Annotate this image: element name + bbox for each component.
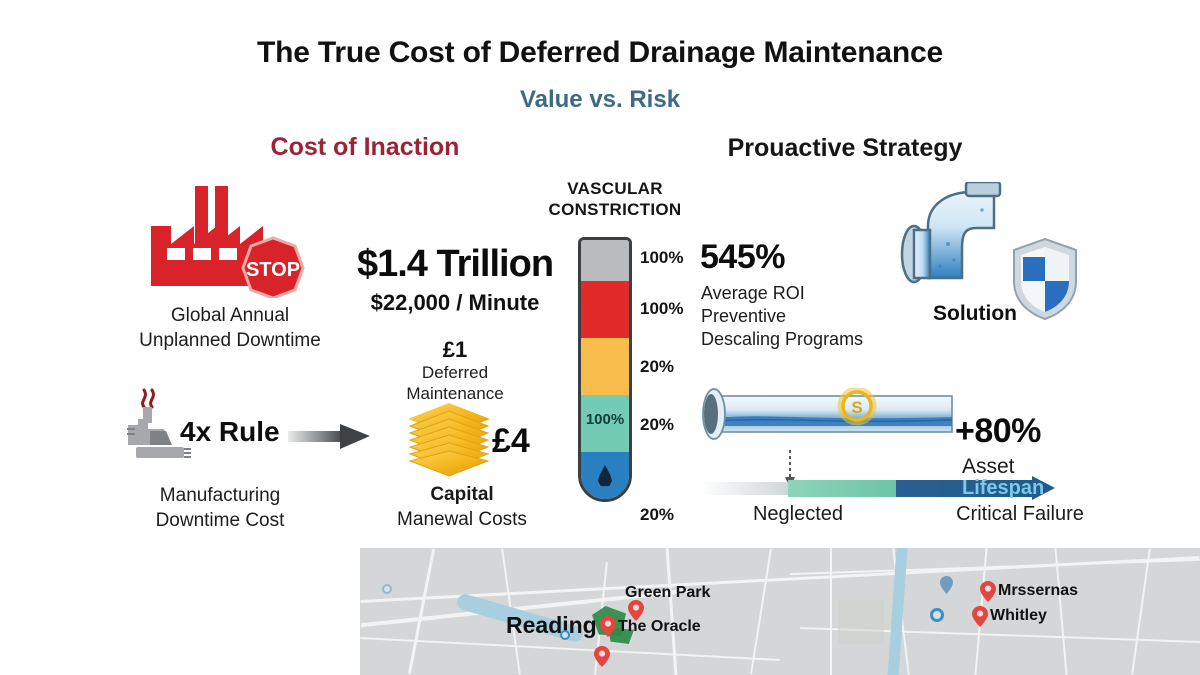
capital-caption-line2: Manewal Costs — [372, 507, 552, 532]
map-label-mrssernas: Mrssernas — [998, 582, 1078, 600]
map-road — [830, 548, 832, 675]
section-heading-proactive-strategy: Prouactive Strategy — [690, 134, 1000, 163]
factory-stop-icon: STOP — [143, 186, 313, 298]
map-label-the-oracle: The Oracle — [618, 618, 701, 636]
headline-rate: $22,000 / Minute — [330, 290, 580, 316]
infographic-canvas: The True Cost of Deferred Drainage Maint… — [0, 0, 1200, 675]
page-title: The True Cost of Deferred Drainage Maint… — [0, 36, 1200, 70]
capital-caption: Capital Manewal Costs — [372, 482, 552, 532]
four-x-rule-label: 4x Rule — [180, 416, 280, 448]
map-pin-whitley[interactable] — [972, 606, 988, 627]
vial-tick-labels: 100%100%20%20%20% — [640, 237, 698, 522]
vial-tick-red: 100% — [640, 299, 698, 319]
roi-caption-line2: Preventive — [701, 305, 921, 328]
manufacturing-caption: Manufacturing Downtime Cost — [120, 483, 320, 533]
location-map[interactable]: Reading Green Park The Oracle Mrssernas … — [360, 548, 1200, 675]
vial-inline-label: 100% — [581, 411, 629, 428]
vial-tick-orange: 20% — [640, 357, 698, 377]
map-pin-the-oracle[interactable] — [600, 616, 616, 637]
vial-tick-gray: 100% — [640, 248, 698, 268]
vial-band-blue — [581, 452, 629, 499]
gold-coin-stack-icon — [404, 399, 494, 481]
manufacturing-caption-line1: Manufacturing — [120, 483, 320, 508]
horizontal-pipe-icon: S — [697, 388, 955, 446]
map-road — [666, 548, 678, 675]
map-blue-dot-icon[interactable] — [930, 608, 944, 622]
capital-caption-line1: Capital — [372, 482, 552, 507]
map-city-label: Reading — [506, 612, 597, 639]
section-heading-cost-of-inaction: Cost of Inaction — [200, 133, 530, 162]
vascular-constriction-gauge: 100% — [578, 237, 632, 502]
track-label-neglected: Neglected — [718, 503, 878, 526]
deferred-caption-line1: Deferred — [360, 362, 550, 383]
capital-amount: £4 — [492, 422, 530, 461]
roi-figure: 545% — [700, 238, 785, 277]
deferred-amount: £1 — [370, 337, 540, 363]
map-road — [750, 549, 772, 675]
lifespan-word-asset: Asset — [962, 455, 1015, 479]
map-blue-pin-icon[interactable] — [940, 576, 953, 594]
track-segment-neglected — [788, 480, 898, 497]
vial-title-line2: CONSTRICTION — [540, 199, 690, 220]
vial-band-teal: 100% — [581, 395, 629, 452]
right-arrow-icon — [288, 421, 370, 451]
map-road — [1131, 548, 1151, 674]
roi-caption: Average ROI Preventive Descaling Program… — [701, 282, 921, 351]
map-blue-dot-icon[interactable] — [560, 630, 570, 640]
roi-caption-line1: Average ROI — [701, 282, 921, 305]
page-subtitle: Value vs. Risk — [0, 86, 1200, 114]
svg-text:STOP: STOP — [246, 259, 300, 281]
solution-label: Solution — [895, 302, 1055, 326]
map-label-whitley: Whitley — [990, 607, 1047, 625]
track-label-critical-failure: Critical Failure — [930, 503, 1110, 526]
map-road — [1054, 548, 1067, 675]
map-blue-dot-icon[interactable] — [382, 584, 392, 594]
map-label-green-park: Green Park — [625, 584, 710, 602]
vial-tick-blue: 20% — [640, 505, 698, 525]
map-pin-unlabeled[interactable] — [594, 646, 610, 667]
headline-figure: $1.4 Trillion — [330, 243, 580, 286]
lifespan-figure: +80% — [955, 412, 1041, 451]
svg-text:S: S — [851, 398, 862, 417]
vial-band-gray — [581, 240, 629, 281]
downtime-caption-line1: Global Annual — [120, 303, 340, 328]
lifespan-word-lifespan: Lifespan — [962, 477, 1044, 500]
vial-title: VASCULAR CONSTRICTION — [540, 178, 690, 221]
elbow-pipe-icon — [890, 182, 1025, 302]
vial-title-line1: VASCULAR — [540, 178, 690, 199]
downtime-caption-line2: Unplanned Downtime — [120, 328, 340, 353]
track-segment-faded — [700, 482, 790, 495]
manufacturing-caption-line2: Downtime Cost — [120, 508, 320, 533]
water-drop-icon — [598, 465, 613, 487]
map-green-area — [838, 600, 884, 644]
vial-tick-teal: 20% — [640, 415, 698, 435]
roi-caption-line3: Descaling Programs — [701, 328, 921, 351]
map-road — [790, 559, 1200, 575]
downtime-caption: Global Annual Unplanned Downtime — [120, 303, 340, 353]
vial-band-orange — [581, 338, 629, 395]
map-pin-mrssernas[interactable] — [980, 581, 996, 602]
vial-band-red — [581, 281, 629, 338]
map-road — [408, 549, 435, 674]
